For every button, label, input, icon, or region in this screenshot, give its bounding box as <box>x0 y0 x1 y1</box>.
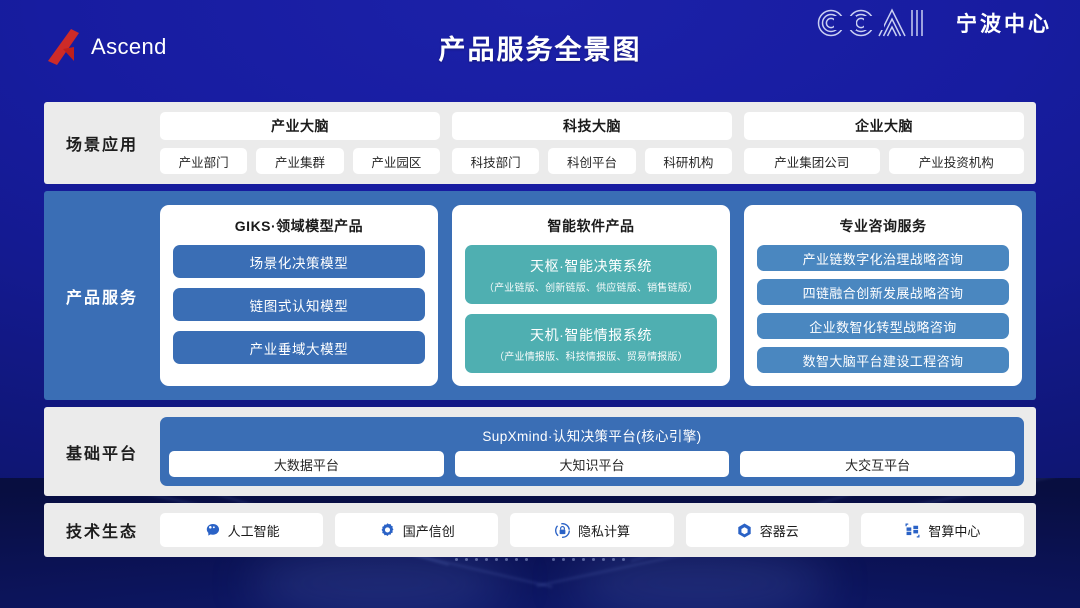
slide-header: Ascend 产品服务全景图 <box>0 0 1080 92</box>
row-label-scenario: 场景应用 <box>44 131 160 155</box>
scenario-head-enterprise[interactable]: 企业大脑 <box>744 112 1024 140</box>
tech-item-label: 容器云 <box>760 521 799 540</box>
platform-item[interactable]: 大交互平台 <box>740 451 1015 477</box>
tech-item-label: 智算中心 <box>928 521 980 540</box>
card-intelligent-software: 智能软件产品 天枢·智能决策系统 （产业链版、创新链版、供应链版、销售链版） 天… <box>452 205 730 386</box>
tech-item-container-cloud[interactable]: 容器云 <box>686 513 849 547</box>
product-pill[interactable]: 场景化决策模型 <box>173 245 425 278</box>
platform-title: SupXmind·认知决策平台(核心引擎) <box>169 422 1015 451</box>
privacy-lock-icon <box>554 522 571 539</box>
tech-item-compute-center[interactable]: 智算中心 <box>861 513 1024 547</box>
product-pill-label: 天机·智能情报系统 <box>530 325 652 345</box>
row-product-service: 产品服务 GIKS·领域模型产品 场景化决策模型 链图式认知模型 <box>44 191 1036 400</box>
slide-root: Ascend 产品服务全景图 <box>0 0 1080 608</box>
platform-item[interactable]: 大知识平台 <box>455 451 730 477</box>
scenario-head-technology[interactable]: 科技大脑 <box>452 112 732 140</box>
product-pill-label: 产业垂域大模型 <box>250 338 349 358</box>
panorama-board: 场景应用 产业大脑 产业部门 产业集群 产业园区 科技大脑 <box>44 102 1036 564</box>
scenario-tag[interactable]: 产业园区 <box>353 148 440 174</box>
row-tech-ecosystem: 技术生态 人工智能 <box>44 503 1036 557</box>
platform-item[interactable]: 大数据平台 <box>169 451 444 477</box>
product-pill[interactable]: 产业链数字化治理战略咨询 <box>757 245 1009 271</box>
scenario-tag[interactable]: 产业部门 <box>160 148 247 174</box>
scenario-column-industry: 产业大脑 产业部门 产业集群 产业园区 <box>160 112 440 174</box>
product-pill[interactable]: 天机·智能情报系统 （产业情报版、科技情报版、贸易情报版） <box>465 314 717 373</box>
product-pill-label: 四链融合创新发展战略咨询 <box>803 283 964 302</box>
product-pill[interactable]: 数智大脑平台建设工程咨询 <box>757 347 1009 373</box>
ccai-ningbo-logo: 宁波中心 <box>816 8 1052 38</box>
scenario-tag[interactable]: 科创平台 <box>548 148 635 174</box>
product-pill-label: 产业链数字化治理战略咨询 <box>803 249 964 268</box>
tech-item-label: 国产信创 <box>403 521 455 540</box>
product-pill[interactable]: 四链融合创新发展战略咨询 <box>757 279 1009 305</box>
supxmind-platform-block: SupXmind·认知决策平台(核心引擎) 大数据平台 大知识平台 大交互平台 <box>160 417 1024 486</box>
card-professional-consulting: 专业咨询服务 产业链数字化治理战略咨询 四链融合创新发展战略咨询 企业数智化转型… <box>744 205 1022 386</box>
tech-item-label: 人工智能 <box>228 521 280 540</box>
scenario-tag[interactable]: 产业集团公司 <box>744 148 880 174</box>
scenario-column-technology: 科技大脑 科技部门 科创平台 科研机构 <box>452 112 732 174</box>
scenario-tag[interactable]: 科研机构 <box>645 148 732 174</box>
ai-head-icon <box>204 522 221 539</box>
product-pill-label: 企业数智化转型战略咨询 <box>809 317 956 336</box>
product-pill-sublabel: （产业情报版、科技情报版、贸易情报版） <box>494 348 688 363</box>
product-pill-label: 数智大脑平台建设工程咨询 <box>803 351 964 370</box>
scenario-column-enterprise: 企业大脑 产业集团公司 产业投资机构 <box>744 112 1024 174</box>
product-pill[interactable]: 链图式认知模型 <box>173 288 425 321</box>
row-label-platform: 基础平台 <box>44 440 160 464</box>
container-cloud-icon <box>736 522 753 539</box>
product-pill-sublabel: （产业链版、创新链版、供应链版、销售链版） <box>484 279 698 294</box>
tech-item-domestic-innovation[interactable]: 国产信创 <box>335 513 498 547</box>
card-title: 智能软件产品 <box>465 216 717 236</box>
row-base-platform: 基础平台 SupXmind·认知决策平台(核心引擎) 大数据平台 大知识平台 大… <box>44 407 1036 496</box>
card-title: 专业咨询服务 <box>757 216 1009 236</box>
product-pill-label: 天枢·智能决策系统 <box>530 256 652 276</box>
product-pill[interactable]: 企业数智化转型战略咨询 <box>757 313 1009 339</box>
product-pill-label: 场景化决策模型 <box>250 252 349 272</box>
tech-item-label: 隐私计算 <box>578 521 630 540</box>
card-title: GIKS·领域模型产品 <box>173 216 425 236</box>
scenario-tag[interactable]: 科技部门 <box>452 148 539 174</box>
gear-icon <box>379 522 396 539</box>
row-scenario-application: 场景应用 产业大脑 产业部门 产业集群 产业园区 科技大脑 <box>44 102 1036 184</box>
tech-item-privacy-computing[interactable]: 隐私计算 <box>510 513 673 547</box>
ccai-center-label: 宁波中心 <box>956 8 1052 38</box>
scenario-tag[interactable]: 产业集群 <box>256 148 343 174</box>
product-pill-label: 链图式认知模型 <box>250 295 349 315</box>
compute-center-icon <box>904 522 921 539</box>
scenario-head-industry[interactable]: 产业大脑 <box>160 112 440 140</box>
product-pill[interactable]: 产业垂域大模型 <box>173 331 425 364</box>
row-label-product: 产品服务 <box>44 284 160 308</box>
card-giks-domain-models: GIKS·领域模型产品 场景化决策模型 链图式认知模型 产业垂域大模型 <box>160 205 438 386</box>
tech-item-ai[interactable]: 人工智能 <box>160 513 323 547</box>
product-pill[interactable]: 天枢·智能决策系统 （产业链版、创新链版、供应链版、销售链版） <box>465 245 717 304</box>
row-label-tech: 技术生态 <box>44 518 160 542</box>
scenario-tag[interactable]: 产业投资机构 <box>889 148 1025 174</box>
ccai-outline-icon <box>816 8 948 38</box>
